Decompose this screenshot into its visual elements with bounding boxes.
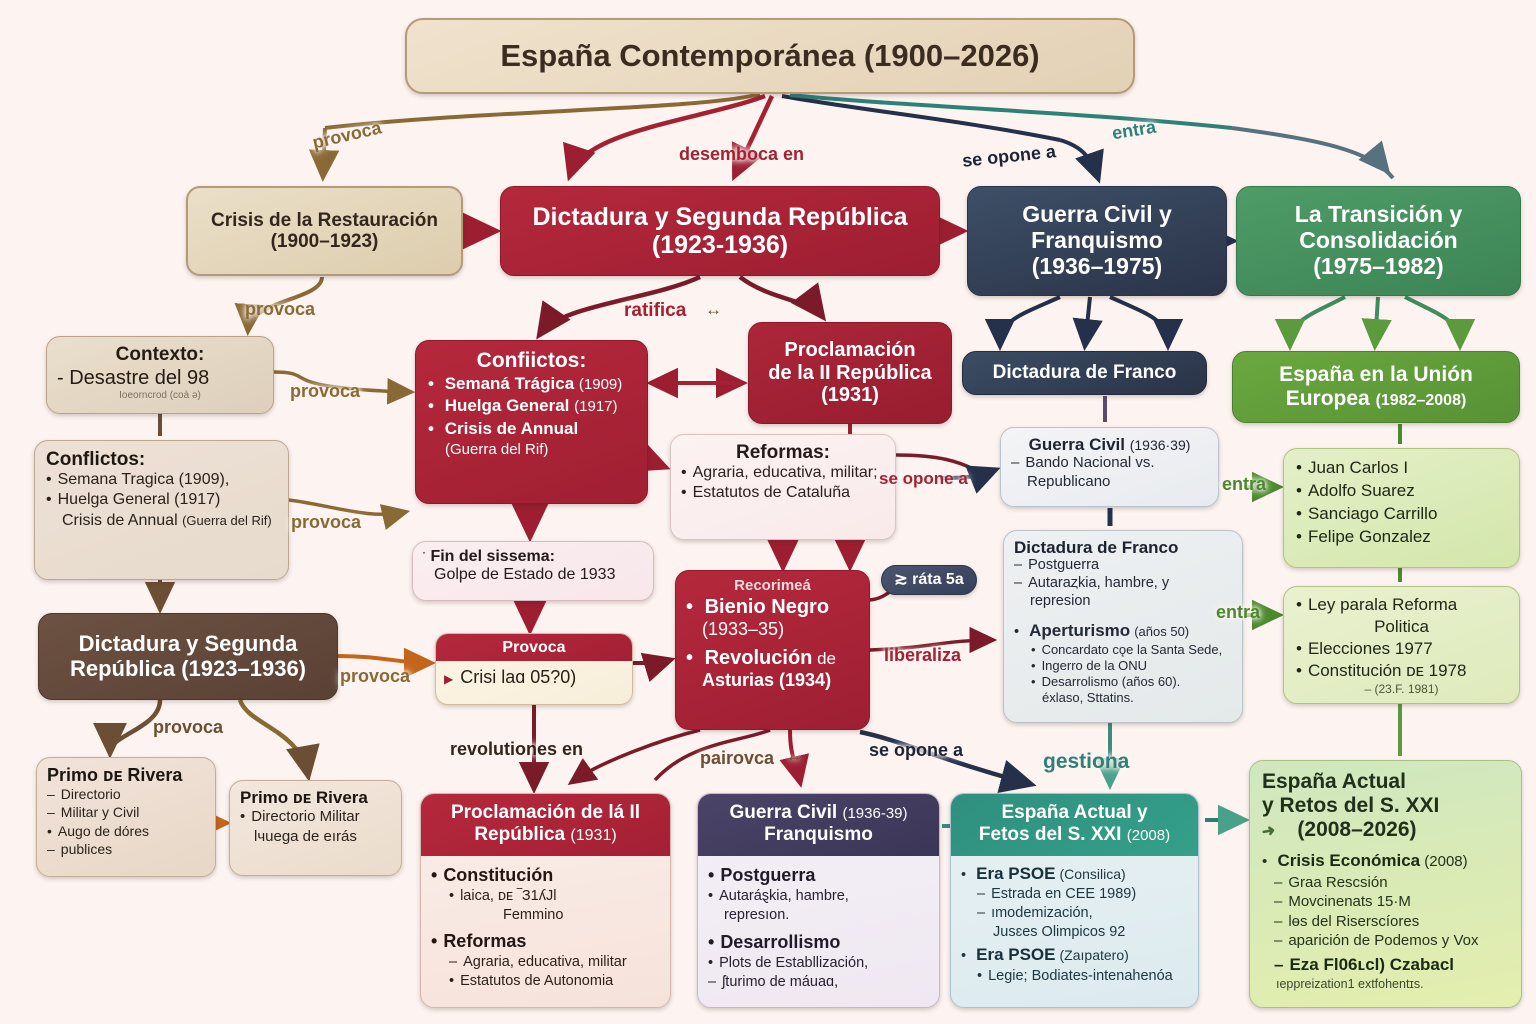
leyes-center-line: Politica: [1296, 616, 1507, 638]
node-personas-transicion[interactable]: Juan Carlos I Adolfo Suarez Sanciago Car…: [1283, 448, 1520, 568]
reformas-list: Agraria, educativa, militar; Estatutos d…: [681, 463, 885, 503]
list-item: Legie; Bodiates-intenahenóa: [977, 967, 1188, 986]
edge-label-se-opone-a-bottom: se opone a: [869, 740, 963, 761]
list-item: Directorio: [47, 785, 205, 803]
edge-label-provoca-2: provoca: [245, 299, 315, 320]
edge-label-entra-top: entra: [1111, 117, 1158, 145]
node-title: ˙ Fin del sissema:: [422, 548, 644, 566]
node-title: Confiictos:: [428, 349, 635, 373]
personas-list: Juan Carlos I Adolfo Suarez Sanciago Car…: [1296, 456, 1507, 548]
list-item: Juan Carlos I: [1296, 456, 1507, 479]
franco2-list: Postguerra Autaraȥkia, hambre, y represi…: [1014, 557, 1232, 706]
node-primo-de-rivera-1[interactable]: Primo ᴅᴇ Rivera Directorio Militar y Civ…: [36, 757, 216, 877]
list-item: Plots de Establlización,: [708, 954, 929, 973]
list-item: Huelga General (1917): [46, 490, 277, 510]
list-item: Crisis Económica (2008): [1262, 850, 1509, 872]
edge-label-se-opone-a-mid: se opone a: [879, 469, 968, 489]
list-item: Huelga General (1917): [428, 395, 635, 418]
list-item: Concardato cǫe la Santa Sede,: [1031, 642, 1232, 658]
list-item: Augo de dóres: [47, 822, 205, 840]
edge-label-entra-mid-2: entra: [1216, 602, 1260, 623]
node-espana-actual-retos[interactable]: España Actual y Retos del S. XXI ➜(2008–…: [1249, 760, 1522, 1008]
node-title: Contexto:: [57, 344, 263, 365]
node-title: Dictadura de Franco: [993, 362, 1177, 383]
conflictos-list: Semana Tragica (1909), Huelga General (1…: [46, 470, 277, 530]
list-item: Militar y Civil: [47, 803, 205, 821]
node-fin-del-sistema[interactable]: ˙ Fin del sissema: Golpe de Estado de 19…: [412, 541, 654, 601]
node-provoca-box[interactable]: Provoca Crisi laɑ 05?0): [435, 633, 633, 705]
node-title: La Transición y Consolidación (1975–1982…: [1295, 202, 1462, 279]
node-leyes-transicion[interactable]: Ley parala Reforma Politica Elecciones 1…: [1283, 586, 1520, 704]
list-item: Autaráȿkia, hambre,: [708, 887, 929, 906]
list-item: ıeppreization1 extfohentɪs.: [1276, 976, 1509, 992]
node-transicion-consolidacion[interactable]: La Transición y Consolidación (1975–1982…: [1236, 186, 1521, 296]
list-item: Sanciago Carrillo: [1296, 502, 1507, 525]
list-item: lɵs del Riserscíores: [1274, 912, 1509, 932]
node-header: España Actual y Fetos del S. XXI (2008): [951, 794, 1198, 856]
guerra-civil-list: Bando Nacional vs. Republicano: [1011, 454, 1208, 491]
list-item: Femmino: [503, 906, 660, 925]
node-dictadura-franco-header[interactable]: Dictadura de Franco: [962, 351, 1207, 395]
list-item: publices: [47, 840, 205, 858]
list-item: Agraria, educativa, militar;: [681, 463, 885, 483]
contexto-scribble: Ioeorncrod (coà ǝ): [57, 390, 263, 401]
edge-label-provoca-5: provoca: [340, 666, 410, 687]
provoca-body: Crisi laɑ 05?0): [436, 661, 632, 694]
list-item: laica, ᴅᴇ ‾З1ʎЈl: [449, 887, 660, 906]
list-item: Revolución de Asturias (1934): [686, 646, 859, 692]
conflictos-red-list: Semaná Trágica (1909) Huelga General (19…: [428, 373, 635, 461]
list-item: Estatutos de Autonomia: [449, 972, 660, 991]
node-dictadura-segunda-republica[interactable]: Dictadura y Segunda República(1923-1936): [500, 186, 940, 276]
pairovca-double-arrow-icon: ↔: [786, 748, 802, 766]
list-item: Desarrolismo (años 60).: [1031, 674, 1232, 690]
node-crisis-restauracion[interactable]: Crisis de la Restauración(1900–1923): [186, 186, 463, 276]
primo1-list: Directorio Militar y Civil Augo de dóres…: [47, 785, 205, 858]
fin-sistema-sub: Golpe de Estado de 1933: [434, 566, 644, 584]
edge-label-revolutiones-en: revolutiones en: [450, 739, 583, 760]
list-item: Desarrollismo: [708, 931, 929, 954]
list-item: Autaraȥkia, hambre, y: [1014, 575, 1232, 593]
node-title: Guerra Civil (1936·39): [1011, 435, 1208, 454]
list-item: ʃturimo de máuaɑ,: [708, 973, 929, 992]
list-item: Jusɛes Olimpicos 92: [993, 923, 1188, 942]
edge-label-desemboca-en: desemboca en: [679, 144, 804, 165]
edge-label-provoca-1: provoca: [311, 117, 384, 153]
list-item: Constitución: [431, 864, 660, 887]
node-reformas[interactable]: Reformas: Agraria, educativa, militar; E…: [670, 434, 896, 540]
list-item: Semana Tragica (1909),: [46, 470, 277, 490]
edge-label-provoca-4: provoca: [291, 512, 361, 533]
list-item: represıon.: [724, 906, 929, 925]
list-item: Ingerro de la ONU: [1031, 658, 1232, 674]
node-contexto[interactable]: Contexto: - Desastre del 98 Ioeorncrod (…: [46, 336, 274, 414]
node-title: Primo ᴅᴇ Rivera: [240, 788, 391, 807]
list-item: Crisis de Annual (Guerra del Rif): [428, 418, 635, 461]
list-item: Felipe Gonzalez: [1296, 525, 1507, 548]
node-guerra-civil-franquismo-detail[interactable]: Guerra Civil (1936-39) Franquismo Postgu…: [697, 793, 940, 1008]
list-item: ımodemización,: [977, 904, 1188, 923]
list-item: Aperturismo (años 50): [1014, 620, 1232, 642]
list-item: Bando Nacional vs.: [1011, 454, 1208, 473]
franquismo2-list: Postguerra Autaráȿkia, hambre, represıon…: [708, 864, 929, 992]
list-item: Postguerra: [708, 864, 929, 887]
leyes-list: Ley parala Reforma Politica Elecciones 1…: [1296, 594, 1507, 698]
list-item: Elecciones 1977: [1296, 638, 1507, 660]
list-item: Estrada en CEE 1989): [977, 885, 1188, 904]
node-title: España en la Unión Europea (1982–2008): [1279, 363, 1473, 410]
node-title: Proclamación de la II República (1931): [768, 339, 931, 406]
ratifica-double-arrow-icon: ↔: [705, 300, 722, 320]
node-proclamacion-ii-republica[interactable]: Proclamación de la II República (1931): [748, 322, 952, 424]
edge-label-gestiona: gestiona: [1043, 750, 1129, 774]
node-dictadura-brown[interactable]: Dictadura y SegundaRepública (1923–1936): [38, 613, 338, 700]
bienio-list: Bienio Negro (1933–35) Revolución de Ast…: [686, 595, 859, 692]
list-item: Movcinenats 15·M: [1274, 892, 1509, 912]
node-header: Guerra Civil (1936-39) Franquismo: [698, 794, 939, 856]
list-item: Era PSOE (Consilica): [961, 863, 1188, 885]
node-title: Dictadura y Segunda República(1923-1936): [532, 203, 907, 259]
node-conflictos-beige[interactable]: Conflictos: Semana Tragica (1909), Huelg…: [34, 440, 289, 580]
rocket-icon: ➜: [1261, 822, 1277, 842]
node-title: Conflictos:: [46, 449, 277, 470]
list-item: éxlaso, Sttatins.: [1042, 690, 1232, 706]
edge-label-ratifica: ratifica: [624, 300, 686, 322]
node-bienio-negro[interactable]: Recorimeá Bienio Negro (1933–35) Revoluc…: [675, 570, 870, 730]
contexto-item: - Desastre del 98: [57, 367, 263, 390]
mindmap-canvas: España Contemporánea (1900–2026) Crisis …: [0, 0, 1536, 1024]
node-dictadura-franco-detail[interactable]: Dictadura de Franco Postguerra Autaraȥki…: [1003, 530, 1243, 723]
proclamacion2-list: Constitución laica, ᴅᴇ ‾З1ʎЈl Femmino Re…: [431, 864, 660, 991]
provoca-header: Provoca: [436, 634, 632, 661]
list-item: Crisis de Annual (Guerra del Rif): [62, 511, 277, 531]
list-item: Bienio Negro (1933–35): [686, 595, 859, 641]
list-item: Reformas: [431, 930, 660, 953]
edge-label-provoca-6: provoca: [153, 717, 223, 738]
edge-label-provoca-3: provoca: [290, 381, 360, 402]
list-item: Republicano: [1027, 473, 1208, 492]
list-item: Postguerra: [1014, 557, 1232, 575]
edge-label-pairovca: pairovca: [700, 748, 774, 769]
list-item: Directorio Militar: [240, 807, 391, 827]
list-item: Constitución ᴅᴇ 1978: [1296, 660, 1507, 682]
root-title: España Contemporánea (1900–2026): [500, 39, 1039, 74]
leyes-footnote: – (23.F. 1981): [1296, 682, 1507, 698]
primo2-list: Directorio Militar lчuega de eırás: [240, 807, 391, 847]
pill-label: ≳ ráta 5a: [894, 571, 963, 589]
node-title: Crisis de la Restauración(1900–1923): [211, 210, 438, 253]
node-proclamacion-ii-republica-detail[interactable]: Proclamación de lá Il República (1931) C…: [420, 793, 671, 1008]
actual2-list: Crisis Económica (2008) Graa Rescsión Mo…: [1262, 850, 1509, 991]
list-item: Agraria, educativa, militar: [449, 953, 660, 972]
list-item: aparición de Podemos y Vox: [1274, 931, 1509, 951]
list-item: Era PSOE (Zaıpatero): [961, 944, 1188, 966]
actual1-list: Era PSOE (Consilica) Estrada en CEE 1989…: [961, 863, 1188, 986]
node-title: Recorimeá: [686, 578, 859, 595]
list-item: Semaná Trágica (1909): [428, 373, 635, 396]
list-item: lчuega de eırás: [254, 827, 391, 847]
node-guerra-civil-detail[interactable]: Guerra Civil (1936·39) Bando Nacional vs…: [1000, 427, 1219, 507]
node-espana-actual-detail[interactable]: España Actual y Fetos del S. XXI (2008) …: [950, 793, 1199, 1008]
node-ratifica-pill[interactable]: ≳ ráta 5a: [881, 565, 977, 595]
list-item: Graa Rescsión: [1274, 873, 1509, 893]
node-primo-de-rivera-2[interactable]: Primo ᴅᴇ Rivera Directorio Militar lчueg…: [229, 780, 402, 876]
node-title: Reformas:: [681, 442, 885, 463]
edge-label-se-opone-a-top: se opone a: [961, 141, 1057, 172]
edge-label-liberaliza: liberaliza: [884, 645, 961, 666]
node-title: Dictadura y SegundaRepública (1923–1936): [70, 632, 306, 681]
node-guerra-civil-franquismo[interactable]: Guerra Civil y Franquismo (1936–1975): [967, 186, 1227, 296]
node-header: Proclamación de lá Il República (1931): [421, 794, 670, 856]
edge-label-entra-mid-1: entra: [1222, 474, 1266, 495]
node-title: Dictadura de Franco: [1014, 538, 1232, 557]
node-title: Primo ᴅᴇ Rivera: [47, 765, 205, 785]
root-node[interactable]: España Contemporánea (1900–2026): [405, 18, 1135, 94]
list-item: Estatutos de Cataluña: [681, 483, 885, 503]
list-item: Adolfo Suarez: [1296, 479, 1507, 502]
node-espana-union-europea[interactable]: España en la Unión Europea (1982–2008): [1232, 351, 1520, 423]
node-title: Guerra Civil y Franquismo (1936–1975): [1022, 202, 1172, 279]
list-item: Ley parala Reforma: [1296, 594, 1507, 616]
node-title: España Actual y Retos del S. XXI ➜(2008–…: [1262, 770, 1509, 842]
node-conflictos-red[interactable]: Confiictos: Semaná Trágica (1909) Huelga…: [415, 340, 648, 504]
list-item: represion: [1030, 593, 1232, 611]
list-item: Eza Fl06ʟcl) Czabacl: [1274, 954, 1509, 976]
